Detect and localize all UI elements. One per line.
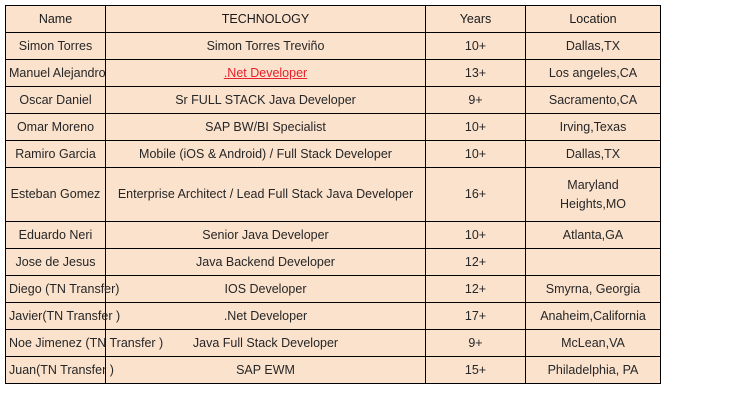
cell-technology[interactable]: Senior Java Developer [106, 222, 426, 249]
years-value: 10+ [465, 147, 486, 161]
technology-text: Java Full Stack Developer [193, 336, 338, 350]
cell-technology[interactable]: Enterprise Architect / Lead Full Stack J… [106, 168, 426, 222]
cell-location[interactable]: Atlanta,GA [526, 222, 661, 249]
cell-name[interactable]: Jose de Jesus [6, 249, 106, 276]
cell-name[interactable]: Javier(TN Transfer ) [6, 303, 106, 330]
years-value: 12+ [465, 255, 486, 269]
candidates-table: Name TECHNOLOGY Years Location Simon Tor… [5, 5, 661, 384]
technology-text: Senior Java Developer [202, 228, 328, 242]
table-row[interactable]: Ramiro GarciaMobile (iOS & Android) / Fu… [6, 141, 661, 168]
candidate-name: Simon Torres [9, 39, 102, 53]
header-row: Name TECHNOLOGY Years Location [6, 6, 661, 33]
cell-technology[interactable]: IOS Developer [106, 276, 426, 303]
location-value: McLean,VA [561, 336, 625, 350]
candidate-name: Manuel Alejandro [9, 66, 109, 80]
technology-text: IOS Developer [225, 282, 307, 296]
technology-text: Sr FULL STACK Java Developer [175, 93, 356, 107]
location-value: Atlanta,GA [563, 228, 623, 242]
cell-location[interactable]: McLean,VA [526, 330, 661, 357]
table-row[interactable]: Eduardo NeriSenior Java Developer10+Atla… [6, 222, 661, 249]
table-row[interactable]: Esteban GomezEnterprise Architect / Lead… [6, 168, 661, 222]
technology-link[interactable]: .Net Developer [224, 66, 307, 80]
cell-location[interactable]: Irving,Texas [526, 114, 661, 141]
cell-location[interactable]: Dallas,TX [526, 141, 661, 168]
table-row[interactable]: Noe Jimenez (TN Transfer )Java Full Stac… [6, 330, 661, 357]
technology-text: SAP EWM [236, 363, 295, 377]
years-value: 12+ [465, 282, 486, 296]
location-line-1: Maryland [529, 176, 657, 194]
column-header-location[interactable]: Location [526, 6, 661, 33]
years-value: 15+ [465, 363, 486, 377]
cell-technology[interactable]: .Net Developer [106, 60, 426, 87]
cell-name[interactable]: Esteban Gomez [6, 168, 106, 222]
location-value: Sacramento,CA [549, 93, 637, 107]
cell-years[interactable]: 10+ [426, 114, 526, 141]
cell-years[interactable]: 10+ [426, 222, 526, 249]
cell-years[interactable]: 15+ [426, 357, 526, 384]
cell-years[interactable]: 17+ [426, 303, 526, 330]
years-value: 17+ [465, 309, 486, 323]
cell-years[interactable]: 12+ [426, 249, 526, 276]
cell-technology[interactable]: Mobile (iOS & Android) / Full Stack Deve… [106, 141, 426, 168]
technology-text: SAP BW/BI Specialist [205, 120, 326, 134]
table-row[interactable]: Jose de JesusJava Backend Developer12+ [6, 249, 661, 276]
technology-text: Mobile (iOS & Android) / Full Stack Deve… [139, 147, 392, 161]
column-header-technology[interactable]: TECHNOLOGY [106, 6, 426, 33]
table-row[interactable]: Omar MorenoSAP BW/BI Specialist10+Irving… [6, 114, 661, 141]
table-row[interactable]: Simon TorresSimon Torres Treviño10+Dalla… [6, 33, 661, 60]
cell-technology[interactable]: Java Backend Developer [106, 249, 426, 276]
cell-name[interactable]: Diego (TN Transfer) [6, 276, 106, 303]
cell-technology[interactable]: SAP EWM [106, 357, 426, 384]
cell-name[interactable]: Noe Jimenez (TN Transfer ) [6, 330, 106, 357]
location-value: Philadelphia, PA [548, 363, 639, 377]
years-value: 13+ [465, 66, 486, 80]
candidate-name: Ramiro Garcia [9, 147, 102, 161]
technology-text: Enterprise Architect / Lead Full Stack J… [118, 187, 413, 201]
location-value: Dallas,TX [566, 147, 620, 161]
cell-name[interactable]: Juan(TN Transfer ) [6, 357, 106, 384]
cell-location[interactable]: Dallas,TX [526, 33, 661, 60]
candidate-name: Noe Jimenez (TN Transfer ) [9, 336, 166, 350]
location-value: Anaheim,California [540, 309, 646, 323]
years-value: 9+ [468, 336, 482, 350]
location-value: Dallas,TX [566, 39, 620, 53]
years-value: 10+ [465, 120, 486, 134]
candidate-name: Esteban Gomez [9, 187, 102, 201]
column-header-name[interactable]: Name [6, 6, 106, 33]
technology-text: Simon Torres Treviño [207, 39, 325, 53]
candidate-name: Javier(TN Transfer ) [9, 309, 123, 323]
cell-technology[interactable]: Sr FULL STACK Java Developer [106, 87, 426, 114]
location-value: Irving,Texas [560, 120, 627, 134]
cell-years[interactable]: 9+ [426, 87, 526, 114]
table-header: Name TECHNOLOGY Years Location [6, 6, 661, 33]
technology-text: Java Backend Developer [196, 255, 335, 269]
cell-name[interactable]: Omar Moreno [6, 114, 106, 141]
cell-years[interactable]: 13+ [426, 60, 526, 87]
table-body: Simon TorresSimon Torres Treviño10+Dalla… [6, 33, 661, 384]
cell-location[interactable]: Philadelphia, PA [526, 357, 661, 384]
cell-years[interactable]: 10+ [426, 33, 526, 60]
cell-name[interactable]: Oscar Daniel [6, 87, 106, 114]
table-row[interactable]: Diego (TN Transfer)IOS Developer12+Smyrn… [6, 276, 661, 303]
cell-years[interactable]: 9+ [426, 330, 526, 357]
location-value: Smyrna, Georgia [546, 282, 640, 296]
years-value: 10+ [465, 39, 486, 53]
candidate-name: Diego (TN Transfer) [9, 282, 122, 296]
cell-location[interactable]: Sacramento,CA [526, 87, 661, 114]
candidate-name: Oscar Daniel [9, 93, 102, 107]
cell-name[interactable]: Simon Torres [6, 33, 106, 60]
column-header-years[interactable]: Years [426, 6, 526, 33]
cell-years[interactable]: 16+ [426, 168, 526, 222]
cell-technology[interactable]: Simon Torres Treviño [106, 33, 426, 60]
cell-name[interactable]: Ramiro Garcia [6, 141, 106, 168]
cell-name[interactable]: Eduardo Neri [6, 222, 106, 249]
years-value: 10+ [465, 228, 486, 242]
table-row[interactable]: Manuel Alejandro.Net Developer13+Los ang… [6, 60, 661, 87]
cell-location[interactable]: Smyrna, Georgia [526, 276, 661, 303]
cell-name[interactable]: Manuel Alejandro [6, 60, 106, 87]
cell-location[interactable] [526, 249, 661, 276]
table-row[interactable]: Oscar DanielSr FULL STACK Java Developer… [6, 87, 661, 114]
location-value: Los angeles,CA [549, 66, 637, 80]
candidate-name: Jose de Jesus [9, 255, 102, 269]
cell-location[interactable]: Los angeles,CA [526, 60, 661, 87]
spreadsheet-area: Name TECHNOLOGY Years Location Simon Tor… [5, 5, 660, 384]
cell-location[interactable]: Anaheim,California [526, 303, 661, 330]
table-row[interactable]: Javier(TN Transfer ).Net Developer17+Ana… [6, 303, 661, 330]
location-line-2: Heights,MO [529, 195, 657, 213]
technology-text: .Net Developer [224, 309, 307, 323]
candidate-name: Juan(TN Transfer ) [9, 363, 117, 377]
cell-technology[interactable]: SAP BW/BI Specialist [106, 114, 426, 141]
cell-technology[interactable]: .Net Developer [106, 303, 426, 330]
candidate-name: Eduardo Neri [9, 228, 102, 242]
candidate-name: Omar Moreno [9, 120, 102, 134]
years-value: 9+ [468, 93, 482, 107]
cell-years[interactable]: 12+ [426, 276, 526, 303]
cell-location[interactable]: MarylandHeights,MO [526, 168, 661, 222]
table-row[interactable]: Juan(TN Transfer )SAP EWM15+Philadelphia… [6, 357, 661, 384]
cell-years[interactable]: 10+ [426, 141, 526, 168]
years-value: 16+ [465, 187, 486, 201]
